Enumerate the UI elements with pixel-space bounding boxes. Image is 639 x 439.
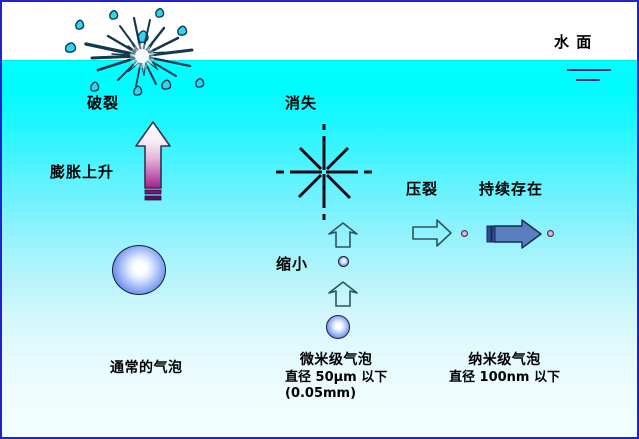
outline-up-arrow-icon [328,280,358,308]
solid-right-arrow-icon [484,218,544,250]
water-surface-line-icon [576,79,600,81]
caption-nano-bubble: 纳米级气泡 直径 100nm 以下 [449,352,560,386]
label-persist: 持续存在 [479,180,543,199]
diagram-canvas: 水 面 破裂 膨胀上升 消失 缩小 压裂 持续存在 [0,0,639,439]
caption-nano-bubble-line2: 直径 100nm 以下 [449,370,560,386]
caption-micro-bubble-line3: (0.05mm) [285,386,387,402]
label-shrink: 缩小 [276,255,308,274]
caption-nano-bubble-line1: 纳米级气泡 [449,352,560,370]
outline-up-arrow-icon [328,221,358,249]
label-fracture: 压裂 [406,180,438,199]
caption-normal-bubble: 通常的气泡 [110,360,183,378]
caption-micro-bubble-line2: 直径 50μm 以下 [285,370,387,386]
caption-micro-bubble-line1: 微米级气泡 [285,352,387,370]
nano-bubble-dot-icon [547,230,554,237]
label-expand-rise: 膨胀上升 [50,163,114,182]
outline-right-arrow-icon [411,217,453,249]
caption-normal-bubble-line1: 通常的气泡 [110,360,183,378]
label-vanish: 消失 [285,94,317,113]
water-surface-line-icon [567,69,611,71]
eight-spoke-starburst-icon [274,122,374,222]
gradient-up-arrow-icon [133,120,173,205]
large-bubble-icon [112,245,166,295]
nano-bubble-dot-icon [461,230,468,237]
caption-micro-bubble: 微米级气泡 直径 50μm 以下 (0.05mm) [285,352,387,402]
label-rupture: 破裂 [87,94,119,113]
micro-bubble-icon [326,315,350,339]
tiny-bubble-icon [338,256,349,267]
label-water-surface: 水 面 [554,33,592,52]
water-splash-burst-icon [72,10,198,92]
